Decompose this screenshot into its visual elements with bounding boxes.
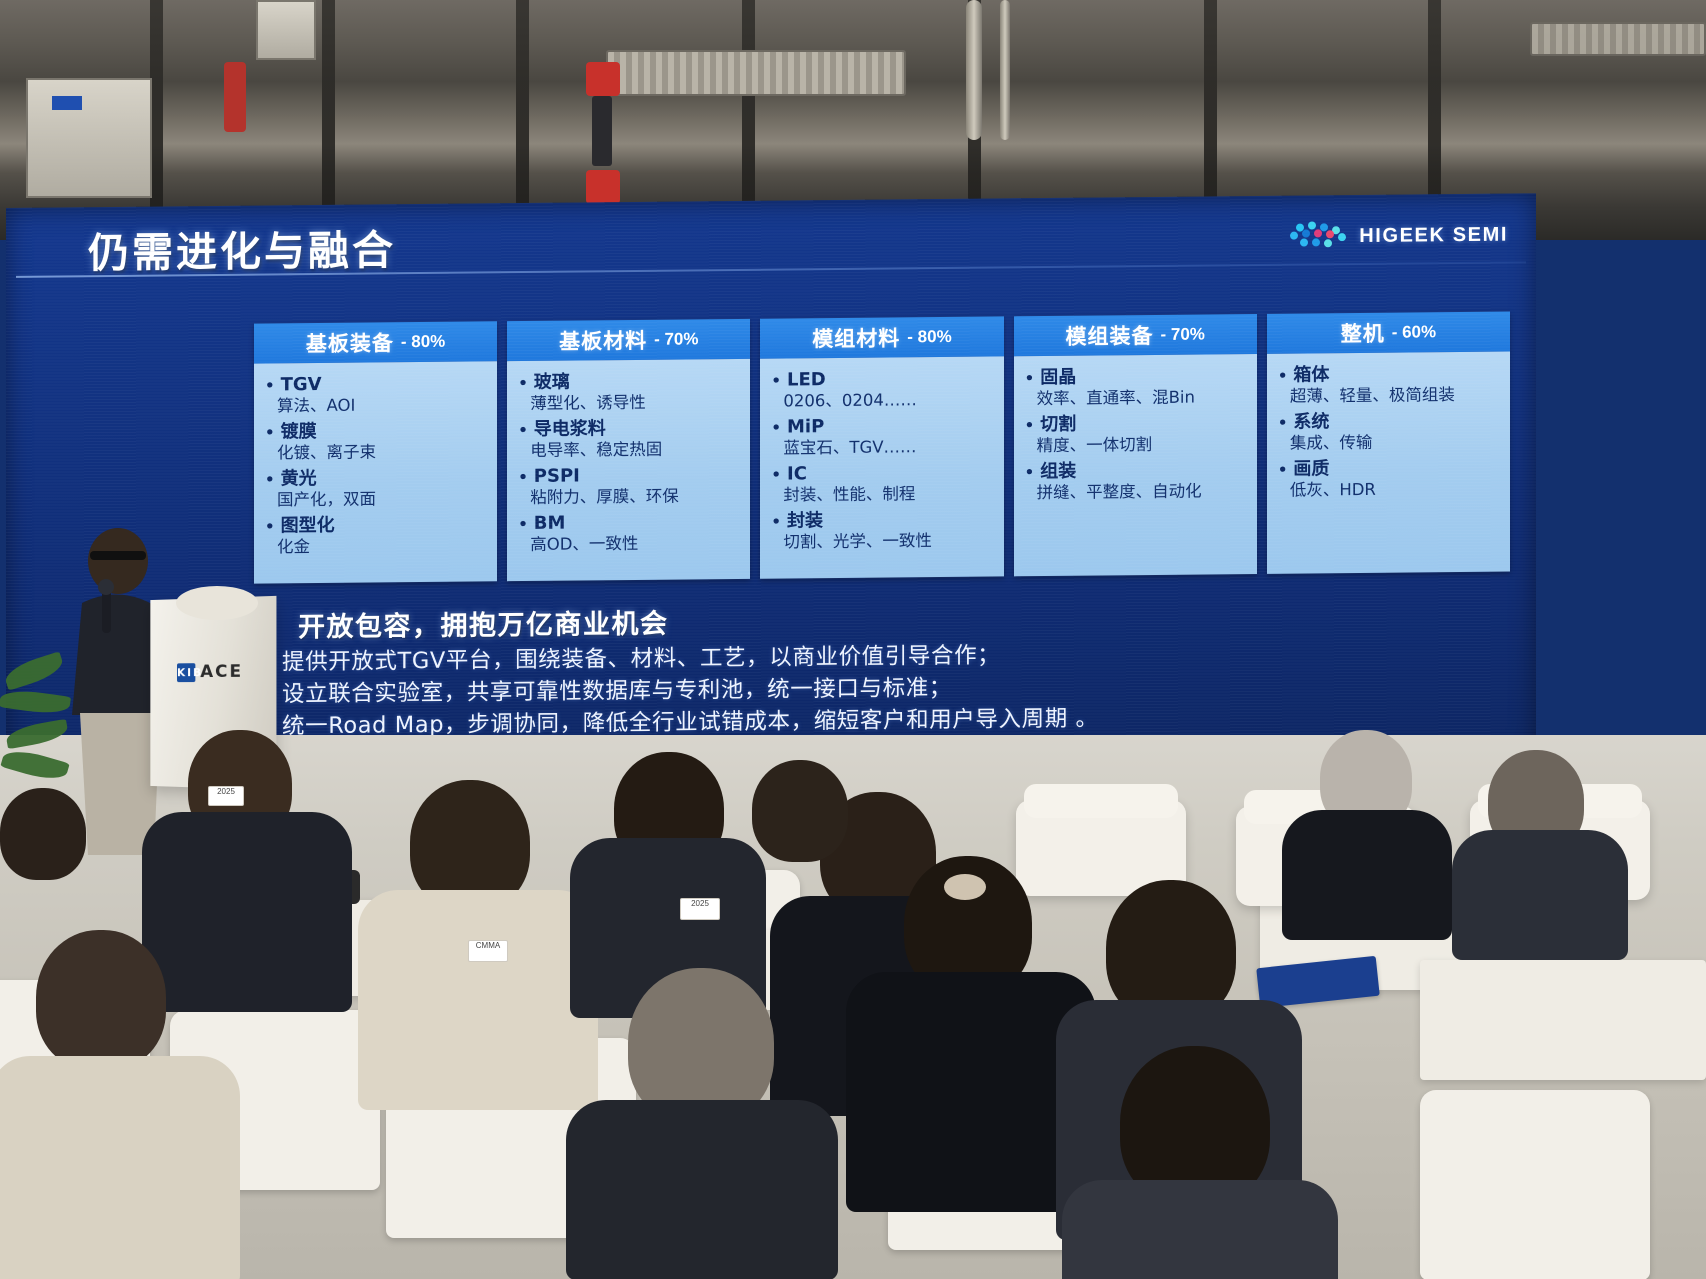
list-item-term: TGV [281,374,322,396]
capability-card-body: •TGV算法、AOI•镀膜化镀、离子束•黄光国产化，双面•图型化化金 [254,361,497,583]
list-item-detail: 薄型化、诱导性 [530,392,740,415]
capability-card-title: 模组材料 [812,322,900,353]
list-item-term: 系统 [1293,411,1329,433]
list-item: •LED [771,368,993,391]
list-item-detail: 国产化，双面 [277,488,487,511]
list-item-term: 玻璃 [534,372,570,394]
list-item: •图型化 [265,513,487,536]
list-item: •箱体 [1278,363,1500,386]
audience-body [358,890,598,1110]
capability-card: 整机- 60%•箱体超薄、轻量、极简组装•系统集成、传输•画质低灰、HDR [1267,312,1510,574]
audience-body [566,1100,838,1279]
podium-logo-text: ACE [200,662,243,682]
list-item: •导电浆料 [518,417,740,440]
audience-head [0,788,86,880]
list-item: •镀膜 [265,419,487,442]
capability-card-body: •固晶效率、直通率、混Bin•切割精度、一体切割•组装拼缝、平整度、自动化 [1014,354,1257,576]
brand-dot [1326,230,1334,238]
bullet-icon: • [771,420,781,435]
podium-flowers [176,586,258,620]
bullet-icon: • [1025,371,1035,386]
list-item: •MiP [771,414,993,437]
bullet-icon: • [518,376,528,391]
list-item-detail: 电导率、稳定热固 [530,439,740,462]
bullet-icon: • [265,378,275,393]
capability-card-title: 基板装备 [306,327,394,358]
list-item-term: 镀膜 [281,421,317,443]
page-title: 仍需进化与融合 [88,216,396,279]
brand-dot [1324,239,1332,247]
audience-badge: CMMA [468,940,508,962]
capability-card-percent: - 80% [401,332,445,352]
list-item: •组装 [1025,459,1247,482]
list-item-term: PSPI [534,465,580,487]
brand-dot [1300,238,1308,246]
conference-photo-scene: 仍需进化与融合 HIGEEK SEMI 基板装备- 80%•TGV算法、AOI•… [0,0,1706,1279]
list-item: •PSPI [518,464,740,487]
audience-body [0,1056,240,1279]
brand-logo: HIGEEK SEMI [1290,220,1508,252]
capability-card-percent: - 70% [1161,324,1205,344]
bullet-icon: • [518,423,528,438]
audience-head [752,760,848,862]
capability-card: 基板材料- 70%•玻璃薄型化、诱导性•导电浆料电导率、稳定热固•PSPI粘附力… [507,319,750,581]
fire-equipment-sign-2 [586,170,620,204]
audience-body [142,812,352,1012]
brand-dot [1290,232,1298,240]
bullet-icon: • [1025,465,1035,480]
capability-card-header: 模组材料- 80% [760,316,1003,358]
list-item-detail: 封装、性能、制程 [783,483,993,506]
capability-card-header: 基板装备- 80% [254,321,497,363]
capability-card-header: 模组装备- 70% [1014,314,1257,356]
table [1420,960,1706,1080]
list-item-detail: 效率、直通率、混Bin [1037,387,1247,410]
bullet-icon: • [265,519,275,534]
brand-name-label: HIGEEK SEMI [1359,223,1508,247]
list-item-term: IC [787,463,807,484]
list-item-detail: 切割、光学、一致性 [783,530,993,553]
list-item-detail: 化金 [277,535,487,558]
bullet-icon: • [771,467,781,482]
brand-dot [1302,229,1310,237]
capability-card: 模组材料- 80%•LED0206、0204……•MiP蓝宝石、TGV……•IC… [760,316,1003,578]
brand-dot [1312,238,1320,246]
capability-card-body: •LED0206、0204……•MiP蓝宝石、TGV……•IC封装、性能、制程•… [760,356,1003,578]
list-item: •固晶 [1025,365,1247,388]
higeek-dots-icon [1290,221,1346,252]
list-item: •玻璃 [518,370,740,393]
list-item: •BM [518,511,740,534]
bullet-icon: • [1278,369,1288,384]
audience-head [36,930,166,1070]
podium-logo-mark: KIB [177,663,195,682]
podium-logo: KIBACE [177,662,243,682]
bullet-icon: • [771,374,781,389]
bullet-icon: • [265,425,275,440]
list-item: •系统 [1278,410,1500,433]
audience-badge: 2025 [208,786,244,806]
list-item: •画质 [1278,456,1500,479]
audience-body [1282,810,1452,940]
capability-card: 基板装备- 80%•TGV算法、AOI•镀膜化镀、离子束•黄光国产化，双面•图型… [254,321,497,583]
capability-card-percent: - 60% [1392,322,1436,342]
brand-dot [1338,233,1346,241]
bullet-icon: • [771,514,781,529]
capability-cards-row: 基板装备- 80%•TGV算法、AOI•镀膜化镀、离子束•黄光国产化，双面•图型… [254,312,1510,584]
list-item-term: 组装 [1040,460,1076,482]
list-item-term: MiP [787,416,824,438]
capability-card: 模组装备- 70%•固晶效率、直通率、混Bin•切割精度、一体切割•组装拼缝、平… [1014,314,1257,576]
chair [1420,1090,1650,1279]
list-item-detail: 化镀、离子束 [277,441,487,464]
list-item-detail: 高OD、一致性 [530,533,740,556]
bullet-icon: • [265,472,275,487]
list-item-term: 黄光 [281,468,317,490]
list-item-detail: 蓝宝石、TGV…… [783,437,993,460]
brand-dot [1314,229,1322,237]
list-item-detail: 拼缝、平整度、自动化 [1037,481,1247,504]
list-item-term: 固晶 [1040,367,1076,389]
list-item-term: LED [787,369,826,391]
bullet-icon: • [518,517,528,532]
bullet-icon: • [1025,418,1035,433]
list-item-term: BM [534,512,566,534]
list-item-detail: 0206、0204…… [783,390,993,413]
capability-card-title: 基板材料 [559,325,647,356]
list-item: •TGV [265,372,487,395]
audience-badge: 2025 [680,898,720,920]
list-item-detail: 集成、传输 [1290,432,1500,455]
capability-card-title: 模组装备 [1066,320,1154,351]
list-item: •封装 [771,508,993,531]
list-item: •切割 [1025,412,1247,435]
list-item-term: 图型化 [281,514,335,536]
capability-card-body: •箱体超薄、轻量、极简组装•系统集成、传输•画质低灰、HDR [1267,352,1510,574]
capability-card-percent: - 70% [654,329,698,349]
bullet-icon: • [518,470,528,485]
brand-dot [1308,221,1316,229]
list-item-detail: 低灰、HDR [1290,479,1500,502]
capability-card-percent: - 80% [907,327,951,347]
list-item-detail: 精度、一体切割 [1037,434,1247,457]
list-item-detail: 超薄、轻量、极简组装 [1290,385,1500,408]
bullet-icon: • [1278,416,1288,431]
audience-body [1062,1180,1338,1279]
capability-card-title: 整机 [1341,318,1385,348]
list-item: •IC [771,461,993,484]
list-item-term: 封装 [787,510,823,532]
bullet-icon: • [1278,462,1288,477]
cta-body: 提供开放式TGV平台，围绕装备、材料、工艺，以商业价值引导合作；设立联合实验室，… [282,640,1099,744]
list-item: •黄光 [265,466,487,489]
cta-heading: 开放包容，拥抱万亿商业机会 [298,602,669,645]
fire-equipment-sign [586,62,620,96]
list-item-detail: 算法、AOI [277,395,487,418]
list-item-detail: 粘附力、厚膜、环保 [530,486,740,509]
list-item-term: 画质 [1293,458,1329,480]
hair-tie [944,874,986,900]
list-item-term: 箱体 [1293,364,1329,386]
capability-card-header: 整机- 60% [1267,312,1510,354]
capability-card-body: •玻璃薄型化、诱导性•导电浆料电导率、稳定热固•PSPI粘附力、厚膜、环保•BM… [507,359,750,581]
audience-body [1452,830,1628,960]
list-item-term: 切割 [1040,414,1076,436]
capability-card-header: 基板材料- 70% [507,319,750,361]
list-item-term: 导电浆料 [534,418,606,440]
